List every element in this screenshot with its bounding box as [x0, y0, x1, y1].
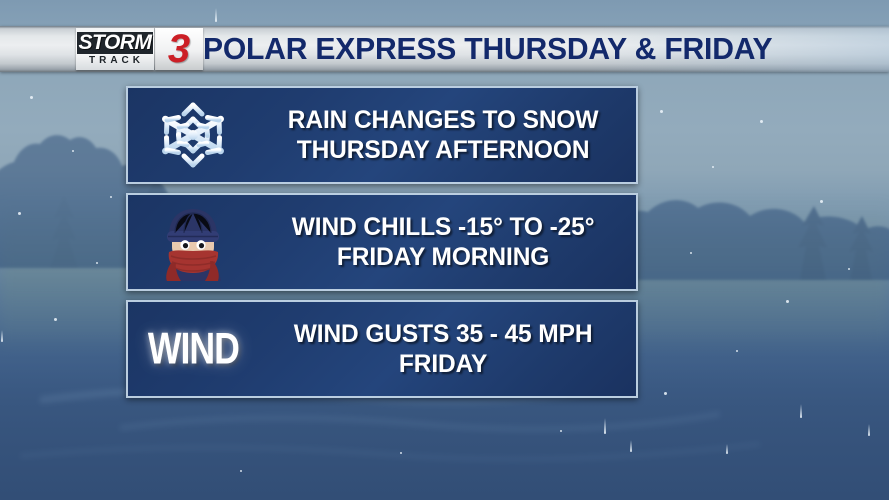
forecast-panel-snow: RAIN CHANGES TO SNOW THURSDAY AFTERNOON	[126, 86, 638, 184]
page-title: POLAR EXPRESS THURSDAY & FRIDAY	[203, 26, 772, 72]
panel-text: RAIN CHANGES TO SNOW THURSDAY AFTERNOON	[262, 105, 632, 165]
panel-icon-slot	[128, 203, 258, 281]
tree-silhouette-right	[600, 150, 889, 280]
wind-wordmark-icon: WIND	[148, 327, 239, 372]
panel-line-1: WIND CHILLS -15° TO -25°	[292, 213, 595, 241]
panel-text: WIND GUSTS 35 - 45 MPH FRIDAY	[262, 319, 632, 379]
logo-track-text: TRACK	[76, 54, 154, 67]
panel-icon-slot	[128, 97, 258, 173]
forecast-panel-wind-chill: WIND CHILLS -15° TO -25° FRIDAY MORNING	[126, 193, 638, 291]
panel-icon-slot: WIND	[128, 332, 258, 366]
station-logo: STORM TRACK 3	[76, 28, 203, 70]
channel-number-text: 3	[168, 29, 190, 69]
storm-track-wordmark: STORM TRACK	[76, 28, 154, 70]
logo-storm-text: STORM	[77, 32, 153, 54]
panel-text: WIND CHILLS -15° TO -25° FRIDAY MORNING	[262, 212, 632, 272]
panel-line-2: THURSDAY AFTERNOON	[262, 135, 625, 165]
panel-line-2: FRIDAY	[262, 349, 625, 379]
forecast-panel-list: RAIN CHANGES TO SNOW THURSDAY AFTERNOON	[126, 86, 638, 407]
weather-graphic: STORM TRACK 3 POLAR EXPRESS THURSDAY & F…	[0, 0, 889, 500]
snowflake-icon	[157, 97, 229, 173]
panel-line-2: FRIDAY MORNING	[262, 242, 625, 272]
panel-line-1: RAIN CHANGES TO SNOW	[288, 106, 599, 134]
forecast-panel-wind-gusts: WIND WIND GUSTS 35 - 45 MPH FRIDAY	[126, 300, 638, 398]
panel-line-1: WIND GUSTS 35 - 45 MPH	[294, 320, 593, 348]
bundled-person-icon	[155, 203, 231, 281]
channel-number-badge: 3	[155, 28, 203, 70]
